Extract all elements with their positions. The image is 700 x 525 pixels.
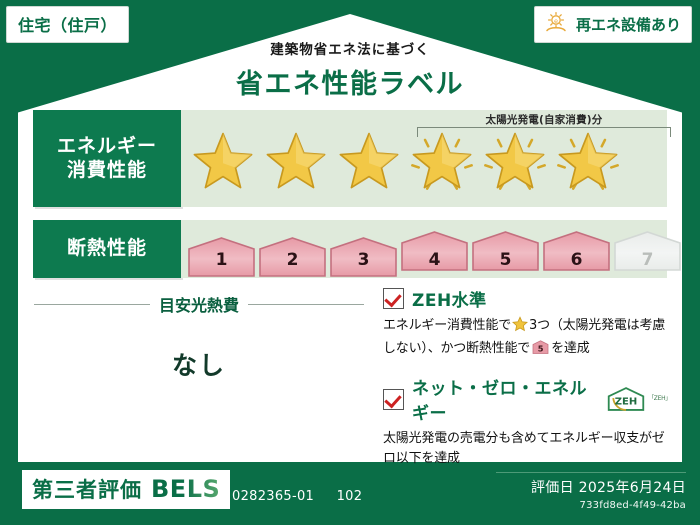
- utility-cost-value: なし: [34, 346, 364, 382]
- zeh-standard-title: ZEH水準: [412, 286, 487, 311]
- footer-divider: [496, 472, 686, 473]
- zeh-net-zero-title: ネット・ゼロ・エネルギー: [412, 374, 594, 424]
- bels-number: 0282365-01: [232, 489, 314, 504]
- label-title: 建築物省エネ法に基づく 省エネ性能ラベル: [0, 38, 700, 101]
- insulation-step-7: 7: [613, 230, 682, 273]
- star-icon: [187, 123, 259, 195]
- star-icon: [260, 123, 332, 195]
- insulation-step-value: 2: [287, 250, 299, 270]
- energy-row-label-line1: エネルギー: [57, 135, 157, 159]
- star-icon: [552, 123, 624, 195]
- rule-right: [248, 304, 364, 305]
- sun-icon: e: [543, 11, 569, 37]
- evaluation-date: 評価日 2025年6月24日: [531, 477, 686, 497]
- star-rating: [181, 110, 667, 207]
- bels-jp-label: 第三者評価: [32, 474, 142, 504]
- label-footer: 第三者評価 BELS 0282365-01 102 評価日 2025年6月24日…: [0, 467, 700, 525]
- insulation-step-3: 3: [329, 236, 398, 273]
- insulation-step-value: 1: [216, 250, 228, 270]
- evaluation-date-value: 2025年6月24日: [579, 480, 686, 496]
- zeh-item-net-zero: ネット・ゼロ・エネルギー ZEH 「ZEH」 太陽光発電の売電分も含めてエネルギ…: [383, 374, 671, 468]
- utility-cost-title: 目安光熱費: [159, 292, 239, 316]
- insulation-step-value: 7: [642, 250, 654, 270]
- star-icon: [479, 123, 551, 195]
- evaluation-date-label: 評価日: [531, 480, 574, 496]
- bels-en-label: BELS: [151, 475, 220, 503]
- utility-cost-block: 目安光熱費 なし: [34, 292, 364, 382]
- bels-number-secondary: 102: [337, 489, 363, 504]
- energy-performance-row: エネルギー 消費性能 太陽光発電(自家消費)分: [33, 110, 667, 207]
- insulation-step-2: 2: [258, 236, 327, 273]
- evaluation-date-block: 評価日 2025年6月24日 733fd8ed-4f49-42ba: [531, 477, 686, 511]
- renewable-equipment-badge: e 再エネ設備あり: [534, 6, 692, 43]
- insulation-grade-5-icon: 5: [532, 340, 549, 362]
- insulation-row-label: 断熱性能: [33, 220, 181, 278]
- insulation-step-4: 4: [400, 230, 469, 273]
- zeh-standard-header: ZEH水準: [383, 286, 671, 311]
- rule-left: [34, 304, 150, 305]
- insulation-step-value: 5: [500, 250, 512, 270]
- building-type-badge: 住宅（住戸）: [6, 6, 129, 43]
- insulation-scale: 1234567: [181, 220, 667, 278]
- checkbox-checked-icon: [383, 389, 404, 410]
- insulation-step-6: 6: [542, 230, 611, 273]
- star-icon: [406, 123, 478, 195]
- zeh-criteria-list: ZEH水準 エネルギー消費性能で 3つ（太陽光発電は考慮しない）、かつ断熱性能で…: [383, 286, 671, 481]
- insulation-step-1: 1: [187, 236, 256, 273]
- insulation-row-body: 1234567: [181, 220, 667, 278]
- energy-row-body: 太陽光発電(自家消費)分: [181, 110, 667, 207]
- zeh-item-standard: ZEH水準 エネルギー消費性能で 3つ（太陽光発電は考慮しない）、かつ断熱性能で…: [383, 286, 671, 361]
- insulation-step-value: 3: [358, 250, 370, 270]
- zeh-logo-subtext: 「ZEH」: [648, 396, 671, 402]
- zeh-standard-desc-part3: を達成: [551, 341, 589, 356]
- svg-text:ZEH: ZEH: [615, 396, 637, 407]
- insulation-step-value: 6: [571, 250, 583, 270]
- zeh-standard-description: エネルギー消費性能で 3つ（太陽光発電は考慮しない）、かつ断熱性能で 5 を達成: [383, 316, 671, 361]
- zeh-net-zero-header: ネット・ゼロ・エネルギー ZEH 「ZEH」: [383, 374, 671, 424]
- zeh-house-logo-icon: ZEH 「ZEH」: [606, 386, 671, 412]
- energy-row-label-line2: 消費性能: [67, 159, 147, 183]
- insulation-step-value: 4: [429, 250, 441, 270]
- bels-logo: 第三者評価 BELS: [22, 470, 230, 509]
- zeh-standard-desc-part1: エネルギー消費性能で: [383, 318, 511, 333]
- document-hash: 733fd8ed-4f49-42ba: [531, 500, 686, 511]
- title-main: 省エネ性能ラベル: [0, 62, 700, 101]
- checkbox-checked-icon: [383, 288, 404, 309]
- bels-number-row: 0282365-01 102: [232, 489, 362, 504]
- star-icon: [512, 316, 528, 339]
- utility-cost-title-row: 目安光熱費: [34, 292, 364, 316]
- star-icon: [333, 123, 405, 195]
- renewable-badge-label: 再エネ設備あり: [576, 14, 681, 35]
- energy-row-label: エネルギー 消費性能: [33, 110, 181, 207]
- zeh-net-zero-description: 太陽光発電の売電分も含めてエネルギー収支がゼロ以下を達成: [383, 429, 671, 468]
- insulation-step-5: 5: [471, 230, 540, 273]
- insulation-performance-row: 断熱性能 1234567: [33, 220, 667, 278]
- svg-text:e: e: [554, 17, 558, 25]
- bels-energy-label: 住宅（住戸） e 再エネ設備あり 建築物省エネ法に基づく 省エネ性能ラベル エネ…: [0, 0, 700, 525]
- svg-text:5: 5: [538, 343, 544, 353]
